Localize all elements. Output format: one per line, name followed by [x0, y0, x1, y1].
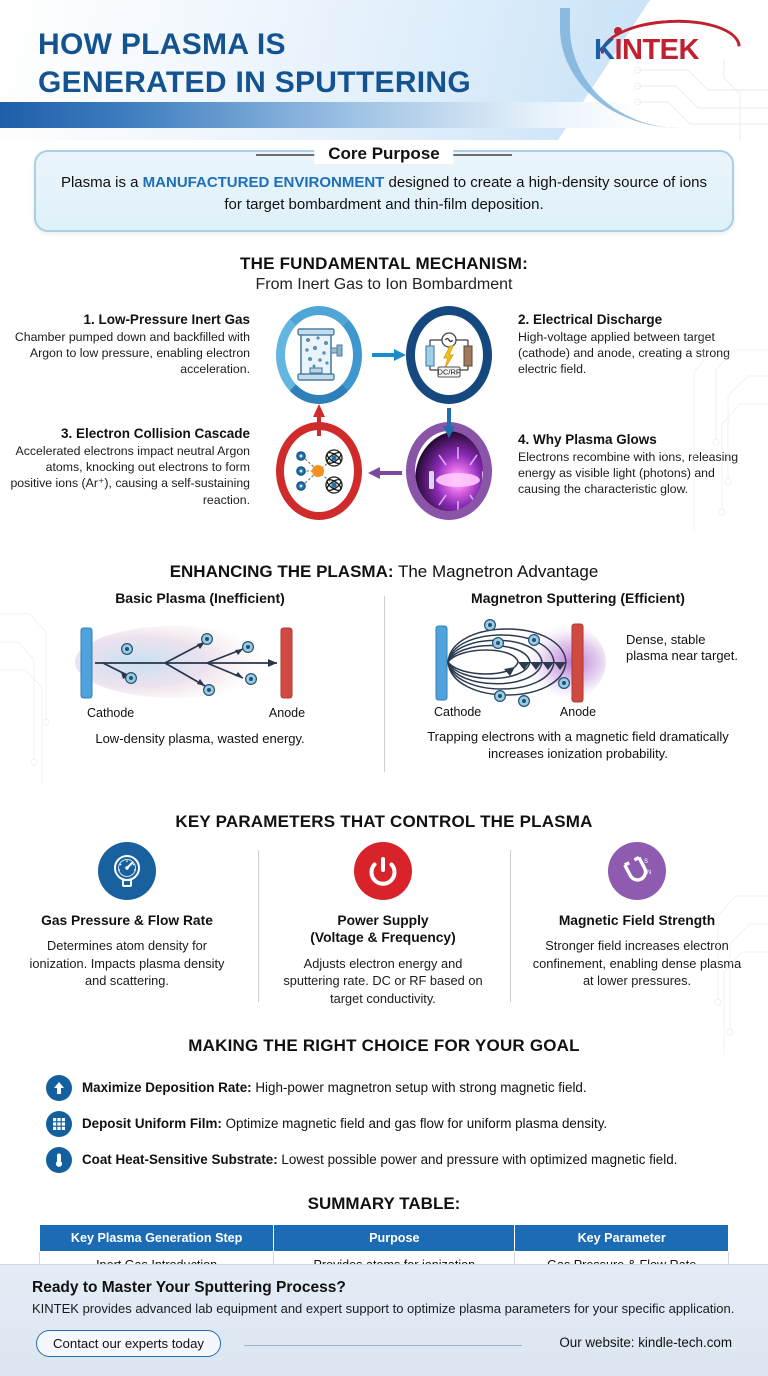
basic-plasma-caption: Low-density plasma, wasted energy. — [30, 730, 370, 748]
arrow-step3-to-step1 — [313, 404, 325, 436]
step-1-ring — [276, 306, 362, 404]
header-blue-bar-decoration — [0, 102, 640, 128]
basic-plasma-heading: Basic Plasma (Inefficient) — [30, 590, 370, 606]
step-2-ring: DC/RF — [406, 306, 492, 404]
power-button-icon-wrap — [354, 842, 412, 900]
choice-text-2: Deposit Uniform Film: Optimize magnetic … — [82, 1115, 607, 1132]
summary-col-header-0: Key Plasma Generation Step — [40, 1224, 274, 1251]
magnet-icon: S N — [620, 854, 654, 888]
key-parameters-title: KEY PARAMETERS THAT CONTROL THE PLASMA — [0, 812, 768, 832]
basic-plasma-diagram: Cathode Anode — [55, 614, 345, 724]
step-3-body: Accelerated electrons impact neutral Arg… — [10, 443, 250, 509]
summary-table-header-row: Key Plasma Generation Step Purpose Key P… — [40, 1224, 729, 1251]
mechanism-step-4-text: 4. Why Plasma Glows Electrons recombine … — [518, 432, 758, 498]
basic-cathode-label: Cathode — [87, 706, 134, 720]
page-title-line1: HOW PLASMA IS — [38, 26, 471, 64]
page-title: HOW PLASMA IS GENERATED IN SPUTTERING — [38, 26, 471, 103]
thermometer-icon-wrap — [46, 1147, 72, 1173]
logo-letters-intek: INTEK — [614, 34, 699, 66]
magnetic-field-heading: Magnetic Field Strength — [532, 912, 742, 930]
key-parameters-divider-2 — [510, 850, 511, 1002]
step-4-body: Electrons recombine with ions, releasing… — [518, 449, 758, 498]
power-circuit-icon: DC/RF — [422, 326, 476, 384]
magnetic-field-body: Stronger field increases electron confin… — [532, 937, 742, 989]
mechanism-diagram: 1. Low-Pressure Inert Gas Chamber pumped… — [0, 304, 768, 542]
choice-label-2: Deposit Uniform Film: — [82, 1116, 222, 1131]
footer-heading: Ready to Master Your Sputtering Process? — [32, 1279, 736, 1297]
step-2-heading: 2. Electrical Discharge — [518, 312, 758, 327]
core-purpose-section: Core Purpose Plasma is a MANUFACTURED EN… — [34, 150, 734, 232]
enhancing-title-bold: ENHANCING THE PLASMA: — [170, 562, 394, 581]
basic-plasma-panel: Basic Plasma (Inefficient) — [30, 590, 370, 748]
arrow-step1-to-step2 — [372, 349, 406, 361]
grid-icon — [51, 1116, 67, 1132]
key-parameter-gas-pressure: Gas Pressure & Flow Rate Determines atom… — [22, 842, 232, 990]
magnetron-heading: Magnetron Sputtering (Efficient) — [398, 590, 758, 606]
enhancing-title: ENHANCING THE PLASMA: The Magnetron Adva… — [0, 562, 768, 582]
choice-text-1: Maximize Deposition Rate: High-power mag… — [82, 1079, 587, 1096]
mechanism-step-2-text: 2. Electrical Discharge High-voltage app… — [518, 312, 758, 378]
step-4-heading: 4. Why Plasma Glows — [518, 432, 758, 447]
step-1-body: Chamber pumped down and backfilled with … — [10, 329, 250, 378]
footer-divider-line — [244, 1345, 522, 1347]
power-supply-heading-line2: (Voltage & Frequency) — [278, 929, 488, 947]
core-purpose-label: Core Purpose — [314, 144, 453, 164]
basic-anode-label: Anode — [269, 706, 305, 720]
atom-collision-icon — [290, 442, 348, 500]
logo-letter-k: K — [594, 34, 614, 66]
gas-pressure-heading: Gas Pressure & Flow Rate — [22, 912, 232, 930]
svg-text:S: S — [644, 859, 648, 865]
choice-body-3: Lowest possible power and pressure with … — [278, 1152, 678, 1167]
plasma-glow-icon — [415, 431, 492, 520]
enhancing-divider — [384, 596, 385, 772]
pressure-gauge-icon — [110, 853, 144, 889]
core-text-highlight: MANUFACTURED ENVIRONMENT — [143, 174, 385, 191]
kintek-logo: KINTEK — [594, 20, 744, 72]
choice-label-1: Maximize Deposition Rate: — [82, 1080, 252, 1095]
magnetron-caption: Trapping electrons with a magnetic field… — [398, 728, 758, 763]
choices-list: Maximize Deposition Rate: High-power mag… — [0, 1070, 768, 1178]
core-rule-right — [452, 154, 512, 156]
enhancing-title-rest: The Magnetron Advantage — [394, 562, 599, 581]
choices-title: MAKING THE RIGHT CHOICE FOR YOUR GOAL — [0, 1036, 768, 1056]
core-purpose-text: Plasma is a MANUFACTURED ENVIRONMENT des… — [54, 172, 714, 216]
choice-row-heat-sensitive: Coat Heat-Sensitive Substrate: Lowest po… — [0, 1142, 768, 1178]
choice-label-3: Coat Heat-Sensitive Substrate: — [82, 1152, 278, 1167]
power-supply-heading-line1: Power Supply — [278, 912, 488, 930]
choice-text-3: Coat Heat-Sensitive Substrate: Lowest po… — [82, 1151, 677, 1168]
gas-pressure-body: Determines atom density for ionization. … — [22, 937, 232, 989]
magnetron-note: Dense, stable plasma near target. — [626, 632, 746, 666]
magnetron-diagram: Cathode Anode — [412, 612, 642, 722]
pressure-gauge-icon-wrap — [98, 842, 156, 900]
choice-row-maximize-deposition: Maximize Deposition Rate: High-power mag… — [0, 1070, 768, 1106]
power-button-icon — [366, 854, 400, 888]
key-parameter-power-supply: Power Supply (Voltage & Frequency) Adjus… — [278, 842, 488, 1007]
page-header: HOW PLASMA IS GENERATED IN SPUTTERING KI… — [0, 0, 768, 140]
magnet-icon-wrap: S N — [608, 842, 666, 900]
page-footer: Ready to Master Your Sputtering Process?… — [0, 1264, 768, 1376]
grid-icon-wrap — [46, 1111, 72, 1137]
summary-table-title: SUMMARY TABLE: — [0, 1194, 768, 1214]
magnetron-panel: Magnetron Sputtering (Efficient) — [398, 590, 758, 763]
arrow-up-icon — [51, 1080, 67, 1096]
magnetron-anode-label: Anode — [560, 705, 596, 719]
vacuum-chamber-icon — [293, 326, 345, 384]
footer-body: KINTEK provides advanced lab equipment a… — [32, 1300, 736, 1318]
arrow-step2-to-step4 — [443, 408, 455, 438]
step-3-heading: 3. Electron Collision Cascade — [10, 426, 250, 441]
key-parameters-section: Gas Pressure & Flow Rate Determines atom… — [0, 842, 768, 1014]
power-supply-body: Adjusts electron energy and sputtering r… — [278, 955, 488, 1007]
key-parameter-magnetic-field: S N Magnetic Field Strength Stronger fie… — [532, 842, 742, 990]
arrow-step4-to-step3 — [366, 467, 402, 479]
mechanism-step-3-text: 3. Electron Collision Cascade Accelerate… — [10, 426, 250, 509]
mechanism-subtitle: From Inert Gas to Ion Bombardment — [0, 276, 768, 294]
mechanism-title: THE FUNDAMENTAL MECHANISM: — [0, 254, 768, 274]
svg-text:N: N — [647, 870, 651, 876]
power-supply-heading: Power Supply (Voltage & Frequency) — [278, 912, 488, 947]
summary-col-header-1: Purpose — [274, 1224, 515, 1251]
page-title-line2: GENERATED IN SPUTTERING — [38, 64, 471, 102]
choice-body-2: Optimize magnetic field and gas flow for… — [222, 1116, 607, 1131]
enhancing-section: Basic Plasma (Inefficient) — [0, 590, 768, 790]
summary-col-header-2: Key Parameter — [515, 1224, 729, 1251]
footer-website: Our website: kindle-tech.com — [559, 1335, 732, 1350]
magnetron-cathode-label: Cathode — [434, 705, 481, 719]
contact-experts-button[interactable]: Contact our experts today — [36, 1330, 221, 1357]
arrow-up-icon-wrap — [46, 1075, 72, 1101]
core-rule-left — [256, 154, 316, 156]
core-text-before: Plasma is a — [61, 174, 143, 191]
choice-row-uniform-film: Deposit Uniform Film: Optimize magnetic … — [0, 1106, 768, 1142]
step-1-heading: 1. Low-Pressure Inert Gas — [10, 312, 250, 327]
step-3-ring — [276, 422, 362, 520]
step-2-icon-label: DC/RF — [438, 367, 461, 376]
step-2-body: High-voltage applied between target (cat… — [518, 329, 758, 378]
mechanism-step-1-text: 1. Low-Pressure Inert Gas Chamber pumped… — [10, 312, 250, 378]
choice-body-1: High-power magnetron setup with strong m… — [252, 1080, 587, 1095]
key-parameters-divider-1 — [258, 850, 259, 1002]
thermometer-icon — [51, 1152, 67, 1168]
footer-cta-row: Contact our experts today Our website: k… — [32, 1330, 736, 1360]
